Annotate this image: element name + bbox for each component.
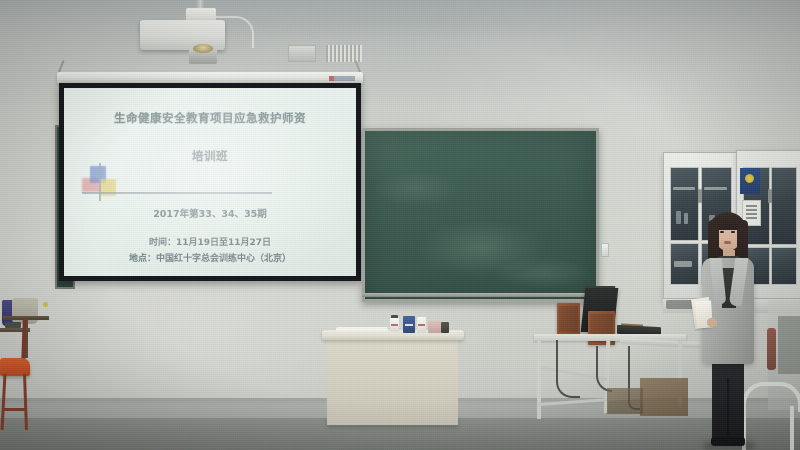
cabinet-handle[interactable]	[700, 189, 702, 203]
cabinet-glass-pane	[771, 167, 797, 245]
wooden-box	[640, 378, 688, 416]
chair-rung	[2, 408, 26, 411]
projector-vent-grille	[326, 45, 362, 62]
cabinet-shelf	[704, 187, 727, 190]
slide-place-text: 地点：中国红十字总会训练中心（北京）	[64, 251, 356, 264]
power-cable	[596, 346, 612, 392]
supply-box-dark	[441, 322, 449, 333]
power-cable	[556, 340, 580, 398]
supply-box-blue	[403, 316, 415, 333]
speaker-left	[557, 303, 580, 335]
poster-emblem-icon	[745, 174, 754, 183]
right-dark-recess	[778, 316, 800, 374]
projector-lens-panel	[288, 45, 316, 62]
wooden-box	[607, 388, 643, 414]
presenter-hand	[707, 318, 717, 327]
cabinet-bottle	[684, 213, 688, 224]
decoration-horizontal-rule	[82, 192, 272, 194]
presenter-eye	[731, 231, 735, 233]
cabinet-handle[interactable]	[770, 189, 772, 203]
slide-decoration	[82, 166, 128, 198]
classroom-photo: 生命健康安全教育项目应急救护师资 培训班 2017年第33、34、35期 时间：…	[0, 0, 800, 450]
cabinet-box	[674, 261, 692, 267]
presenter-eye	[720, 231, 724, 233]
speaker-grille	[559, 306, 578, 332]
chalk-tray	[362, 293, 593, 297]
cabinet-shelf	[673, 187, 695, 190]
supply-box-white	[390, 318, 399, 332]
projector-lens	[193, 44, 213, 53]
lectern-body	[327, 339, 458, 425]
hanging-red-cloth	[767, 328, 776, 370]
lectern-ledge	[336, 327, 388, 331]
green-chalkboard	[362, 128, 599, 302]
coat-hook-icon	[43, 302, 48, 307]
presenter-mouth	[724, 241, 731, 244]
presenter-shoes	[711, 437, 745, 446]
shelf-object	[5, 322, 21, 328]
slide-title-line1: 生命健康安全教育项目应急救护师资	[64, 110, 356, 126]
wall-switch[interactable]	[601, 243, 609, 257]
cabinet-bottle	[676, 211, 681, 224]
slide-time-text: 时间：11月19日至11月27日	[64, 235, 356, 248]
projector-icon	[140, 20, 225, 50]
slide-title-line2: 培训班	[64, 148, 356, 164]
projected-slide: 生命健康安全教育项目应急救护师资 培训班 2017年第33、34、35期 时间：…	[64, 88, 356, 276]
decoration-vertical-rule	[99, 163, 101, 201]
table-leg	[537, 341, 541, 419]
trolley-leg	[790, 406, 794, 450]
standing-presenter	[694, 206, 760, 450]
cabinet-glass-pane	[771, 247, 797, 285]
supply-box-pink	[428, 321, 441, 333]
presenter-leg-split	[727, 378, 729, 440]
supply-box-white	[417, 317, 426, 333]
slide-session-text: 2017年第33、34、35期	[64, 206, 356, 220]
screen-brand-logo	[329, 76, 355, 81]
